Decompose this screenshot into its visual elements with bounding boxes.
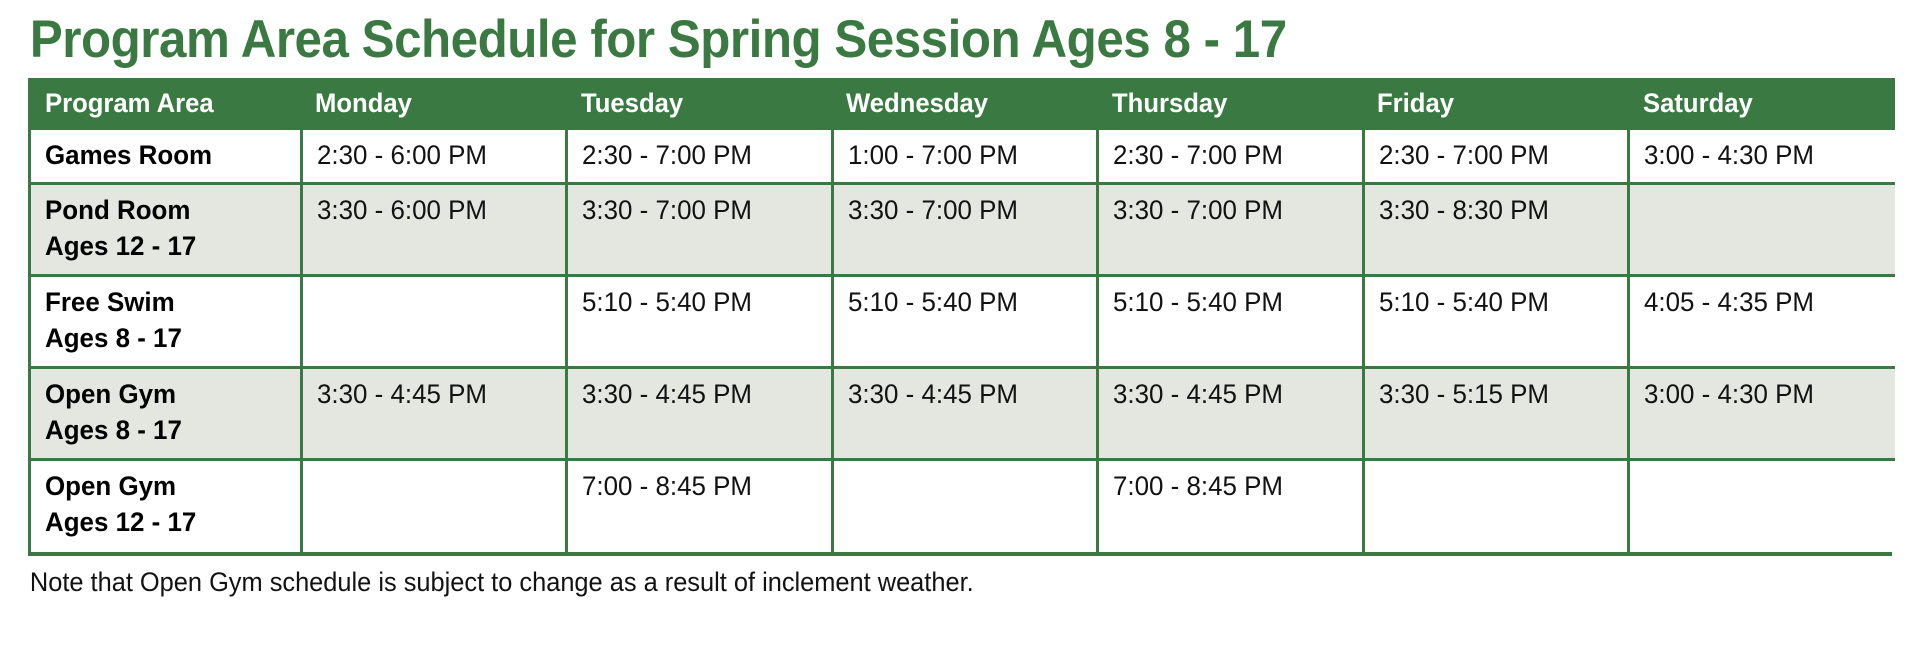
cell-monday: 3:30 - 4:45 PM [301, 368, 567, 460]
page-title: Program Area Schedule for Spring Session… [28, 0, 1762, 74]
column-header-program-area: Program Area [31, 78, 301, 130]
program-area-ages: Ages 8 - 17 [45, 320, 276, 356]
header-label-thursday: Thursday [1112, 88, 1227, 119]
cell-friday: 2:30 - 7:00 PM [1363, 130, 1629, 184]
time-slot: 3:30 - 6:00 PM [317, 192, 542, 228]
time-slot: 3:30 - 8:30 PM [1379, 192, 1604, 228]
program-area-ages: Ages 12 - 17 [45, 228, 276, 264]
program-area-name: Games Room [45, 137, 276, 173]
cell-friday: 3:30 - 5:15 PM [1363, 368, 1629, 460]
time-slot: 3:30 - 7:00 PM [848, 192, 1073, 228]
time-slot: 2:30 - 7:00 PM [582, 137, 807, 173]
time-slot: 5:10 - 5:40 PM [1113, 284, 1338, 320]
cell-friday: 5:10 - 5:40 PM [1363, 276, 1629, 368]
time-slot: 5:10 - 5:40 PM [582, 284, 807, 320]
time-slot: 3:30 - 4:45 PM [317, 376, 542, 412]
cell-saturday: 4:05 - 4:35 PM [1629, 276, 1895, 368]
time-slot: 4:05 - 4:35 PM [1644, 284, 1871, 320]
cell-wednesday: 3:30 - 4:45 PM [832, 368, 1098, 460]
cell-wednesday [832, 460, 1098, 552]
cell-monday: 3:30 - 6:00 PM [301, 184, 567, 276]
table-row: Open Gym Ages 8 - 17 3:30 - 4:45 PM 3:30… [31, 368, 1895, 460]
program-area-name: Open Gym [45, 376, 276, 412]
time-slot: 5:10 - 5:40 PM [1379, 284, 1604, 320]
table-body: Games Room 2:30 - 6:00 PM 2:30 - 7:00 PM… [31, 130, 1895, 552]
header-label-tuesday: Tuesday [581, 88, 683, 119]
column-header-wednesday: Wednesday [832, 78, 1098, 130]
header-label-wednesday: Wednesday [846, 88, 988, 119]
column-header-tuesday: Tuesday [567, 78, 833, 130]
program-area-ages: Ages 12 - 17 [45, 504, 276, 540]
cell-friday: 3:30 - 8:30 PM [1363, 184, 1629, 276]
header-label-monday: Monday [315, 88, 412, 119]
cell-wednesday: 1:00 - 7:00 PM [832, 130, 1098, 184]
time-slot: 2:30 - 6:00 PM [317, 137, 542, 173]
cell-thursday: 7:00 - 8:45 PM [1098, 460, 1364, 552]
table-row: Pond Room Ages 12 - 17 3:30 - 6:00 PM 3:… [31, 184, 1895, 276]
program-area-name: Open Gym [45, 468, 276, 504]
cell-monday: 2:30 - 6:00 PM [301, 130, 567, 184]
time-slot: 5:10 - 5:40 PM [848, 284, 1073, 320]
row-program-area: Free Swim Ages 8 - 17 [31, 276, 301, 368]
cell-monday [301, 276, 567, 368]
time-slot: 3:00 - 4:30 PM [1644, 137, 1871, 173]
row-program-area: Pond Room Ages 12 - 17 [31, 184, 301, 276]
time-slot: 3:00 - 4:30 PM [1644, 376, 1871, 412]
time-slot: 7:00 - 8:45 PM [1113, 468, 1338, 504]
cell-thursday: 3:30 - 7:00 PM [1098, 184, 1364, 276]
time-slot: 3:30 - 7:00 PM [582, 192, 807, 228]
program-area-name: Free Swim [45, 284, 276, 320]
time-slot: 3:30 - 5:15 PM [1379, 376, 1604, 412]
cell-tuesday: 3:30 - 4:45 PM [567, 368, 833, 460]
cell-monday [301, 460, 567, 552]
header-label-program-area: Program Area [45, 88, 214, 119]
column-header-monday: Monday [301, 78, 567, 130]
cell-saturday: 3:00 - 4:30 PM [1629, 368, 1895, 460]
cell-wednesday: 5:10 - 5:40 PM [832, 276, 1098, 368]
cell-thursday: 2:30 - 7:00 PM [1098, 130, 1364, 184]
column-header-saturday: Saturday [1629, 78, 1895, 130]
table-row: Open Gym Ages 12 - 17 7:00 - 8:45 PM 7:0… [31, 460, 1895, 552]
time-slot: 3:30 - 7:00 PM [1113, 192, 1338, 228]
column-header-thursday: Thursday [1098, 78, 1364, 130]
column-header-friday: Friday [1363, 78, 1629, 130]
header-label-saturday: Saturday [1643, 88, 1753, 119]
cell-tuesday: 2:30 - 7:00 PM [567, 130, 833, 184]
table-row: Games Room 2:30 - 6:00 PM 2:30 - 7:00 PM… [31, 130, 1895, 184]
time-slot: 2:30 - 7:00 PM [1379, 137, 1604, 173]
cell-thursday: 3:30 - 4:45 PM [1098, 368, 1364, 460]
cell-tuesday: 5:10 - 5:40 PM [567, 276, 833, 368]
table-row: Free Swim Ages 8 - 17 5:10 - 5:40 PM 5:1… [31, 276, 1895, 368]
schedule-table-container: Program Area Monday Tuesday Wednesday Th… [28, 78, 1892, 556]
time-slot: 3:30 - 4:45 PM [1113, 376, 1338, 412]
row-program-area: Open Gym Ages 12 - 17 [31, 460, 301, 552]
time-slot: 2:30 - 7:00 PM [1113, 137, 1338, 173]
header-label-friday: Friday [1377, 88, 1454, 119]
row-program-area: Open Gym Ages 8 - 17 [31, 368, 301, 460]
header-row: Program Area Monday Tuesday Wednesday Th… [31, 78, 1895, 130]
schedule-table: Program Area Monday Tuesday Wednesday Th… [31, 78, 1895, 552]
time-slot: 3:30 - 4:45 PM [848, 376, 1073, 412]
cell-wednesday: 3:30 - 7:00 PM [832, 184, 1098, 276]
cell-tuesday: 7:00 - 8:45 PM [567, 460, 833, 552]
schedule-page: Program Area Schedule for Spring Session… [0, 0, 1920, 645]
table-header: Program Area Monday Tuesday Wednesday Th… [31, 78, 1895, 130]
program-area-ages: Ages 8 - 17 [45, 412, 276, 448]
cell-thursday: 5:10 - 5:40 PM [1098, 276, 1364, 368]
time-slot: 7:00 - 8:45 PM [582, 468, 807, 504]
time-slot: 3:30 - 4:45 PM [582, 376, 807, 412]
cell-saturday [1629, 460, 1895, 552]
schedule-note: Note that Open Gym schedule is subject t… [28, 565, 1780, 599]
cell-saturday [1629, 184, 1895, 276]
program-area-name: Pond Room [45, 192, 276, 228]
time-slot: 1:00 - 7:00 PM [848, 137, 1073, 173]
row-program-area: Games Room [31, 130, 301, 184]
cell-saturday: 3:00 - 4:30 PM [1629, 130, 1895, 184]
cell-friday [1363, 460, 1629, 552]
cell-tuesday: 3:30 - 7:00 PM [567, 184, 833, 276]
